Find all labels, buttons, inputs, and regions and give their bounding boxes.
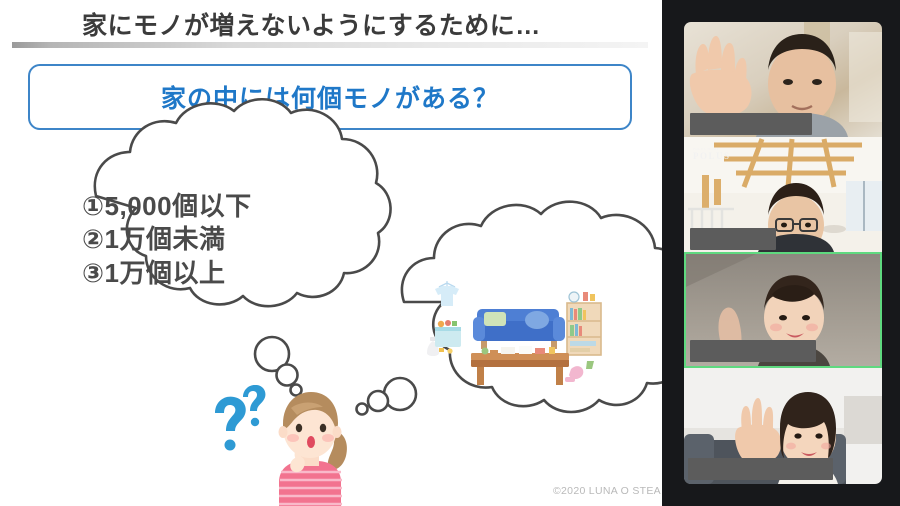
video-participants-panel: POLUS HOMEPOLUS	[662, 0, 900, 506]
title-divider	[12, 42, 648, 48]
living-room-illustration	[415, 275, 605, 395]
participant-name-redacted-4	[688, 458, 833, 480]
blue-sofa-icon	[473, 309, 565, 349]
answer-option-1: ①5,000個以下	[82, 190, 252, 223]
participant-name-redacted-3	[690, 340, 816, 362]
participant-tile-4[interactable]	[684, 368, 882, 484]
participant-tile-2[interactable]: POLUS HOMEPOLUS	[684, 137, 882, 252]
copyright-text: ©2020 LUNA O STEA	[553, 485, 661, 497]
wooden-table-icon	[471, 346, 569, 385]
question-text: 家の中には何個モノがある？	[161, 79, 499, 115]
participant-tile-1[interactable]	[684, 22, 882, 137]
scattered-toys-icon	[565, 361, 594, 382]
slide-title: 家にモノが増えないようにするために…	[82, 6, 541, 42]
participant-name-redacted-2	[690, 228, 776, 250]
bookshelf-icon	[567, 292, 601, 355]
presentation-slide: 家にモノが増えないようにするために… 家の中には何個モノがある？	[0, 0, 662, 506]
question-box: 家の中には何個モノがある？	[28, 64, 632, 130]
participant-tile-3[interactable]	[684, 252, 882, 368]
thinking-woman-illustration	[255, 388, 360, 506]
answer-option-2: ②1万個未満	[82, 223, 252, 256]
participant-name-redacted-1	[690, 113, 812, 135]
polus-watermark: POLUS HOMEPOLUS	[693, 147, 731, 161]
slide-share-screen: 家にモノが増えないようにするために… 家の中には何個モノがある？	[0, 0, 900, 506]
polus-watermark-sub: POLUS HOME	[693, 147, 731, 151]
answer-options-list: ①5,000個以下 ②1万個未満 ③1万個以上	[82, 190, 252, 290]
hanging-shirt-icon	[435, 281, 459, 306]
toy-box-icon	[435, 320, 461, 354]
video-tiles-container: POLUS HOMEPOLUS	[684, 22, 882, 484]
answer-option-3: ③1万個以上	[82, 257, 252, 290]
